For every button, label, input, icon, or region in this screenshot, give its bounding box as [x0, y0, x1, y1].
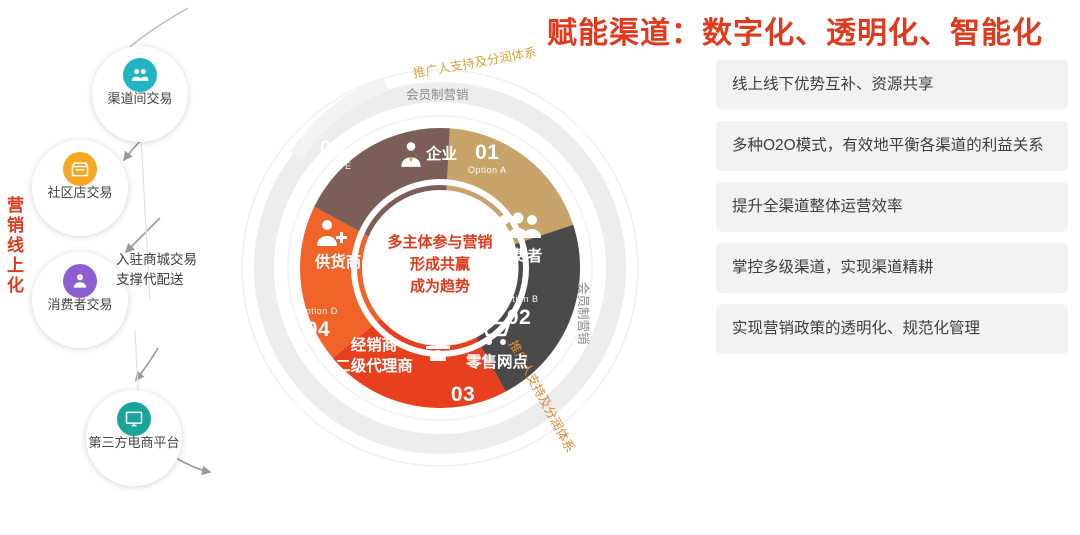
benefit-card-list: 线上线下优势互补、资源共享 多种O2O模式，有效地平衡各渠道的利益关系 提升全渠… — [716, 60, 1068, 365]
users-icon — [123, 58, 157, 92]
segment-option: Option E — [304, 161, 360, 172]
benefit-card: 掌控多级渠道，实现渠道精耕 — [716, 243, 1068, 293]
segment-number: 03 — [438, 382, 488, 407]
segment-number: 05 — [304, 136, 360, 161]
mid-annotation: 入驻商城交易 支撑代配送 — [116, 250, 246, 291]
channel-node-2[interactable]: 消费者交易 — [32, 252, 128, 348]
channel-node-label: 消费者交易 — [32, 296, 128, 314]
benefit-card: 线上线下优势互补、资源共享 — [716, 60, 1068, 110]
segment-03-number-block: 03 Option C — [438, 382, 488, 418]
center-line-1: 多主体参与营销 — [360, 232, 520, 254]
channel-node-0[interactable]: 渠道间交易 — [92, 46, 188, 142]
segment-option: Option A — [468, 165, 507, 176]
center-line-3: 成为趋势 — [360, 276, 520, 298]
center-caption: 多主体参与营销 形成共赢 成为趋势 — [360, 232, 520, 297]
center-line-2: 形成共赢 — [360, 254, 520, 276]
cart-icon — [474, 314, 514, 348]
store-icon — [63, 152, 97, 186]
benefit-card: 实现营销政策的透明化、规范化管理 — [716, 304, 1068, 354]
segment-option: Option C — [438, 407, 488, 418]
ring-caption-top-inner: 会员制营销 — [406, 84, 469, 103]
segment-05-number-block: 05 Option E — [304, 136, 360, 172]
ring-caption-right: 会员制营销 — [575, 282, 594, 345]
benefit-card: 多种O2O模式，有效地平衡各渠道的利益关系 — [716, 121, 1068, 171]
person-icon — [63, 264, 97, 298]
channel-node-3[interactable]: 第三方电商平台 — [86, 390, 182, 486]
employee-icon — [398, 140, 424, 168]
segment-01-name: 企业 — [426, 146, 496, 165]
monitor-icon — [117, 402, 151, 436]
donut-diagram: 推广人支持及分润体系 会员制营销 会员制营销 推广人支持及分润体系 01 Opt… — [236, 36, 656, 506]
channel-node-label: 社区店交易 — [32, 184, 128, 202]
benefit-card: 提升全渠道整体运营效率 — [716, 182, 1068, 232]
segment-04-name: 经销商 二级代理商 — [322, 336, 426, 378]
segment-option: Option D — [288, 306, 348, 317]
supplier-icon — [314, 218, 348, 248]
channel-node-1[interactable]: 社区店交易 — [32, 140, 128, 236]
channel-node-label: 渠道间交易 — [92, 90, 188, 108]
dealer-icon — [426, 332, 450, 362]
segment-03-name: 零售网点 — [452, 354, 542, 373]
channel-node-label: 第三方电商平台 — [86, 434, 182, 452]
